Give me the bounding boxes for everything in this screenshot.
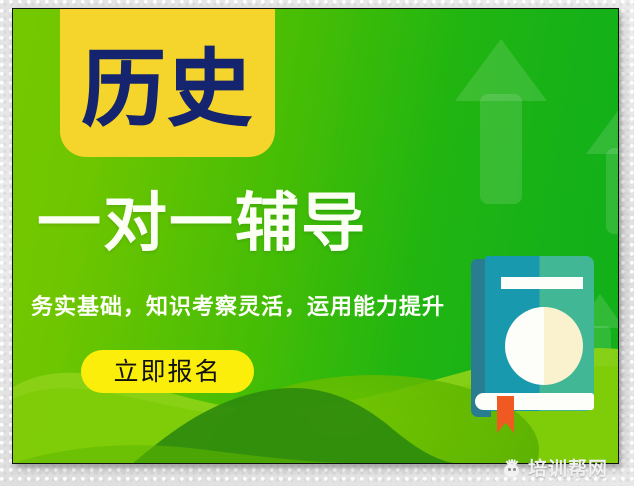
subject-badge: 历史 [60, 8, 275, 157]
subject-badge-label: 历史 [81, 47, 253, 149]
sun-face [504, 464, 519, 477]
arrow-stem [480, 94, 522, 204]
arrow-head [586, 104, 619, 154]
page-background: 历史 一对一辅导 务实基础，知识考察灵活，运用能力提升 立即报名 [0, 0, 634, 486]
arrow-head [455, 39, 547, 101]
arrow-stem [606, 148, 619, 234]
book-title-band [501, 277, 583, 289]
book-icon [471, 256, 594, 423]
banner-headline: 一对一辅导 [37, 192, 597, 256]
promotional-banner: 历史 一对一辅导 务实基础，知识考察灵活，运用能力提升 立即报名 [12, 8, 619, 464]
watermark-label: 培训帮网 [528, 460, 608, 479]
sign-up-now-button[interactable]: 立即报名 [81, 350, 254, 393]
up-arrow-icon [455, 39, 547, 204]
sign-up-now-label: 立即报名 [113, 359, 221, 384]
book-pages [475, 393, 594, 410]
sun-face-icon [501, 459, 522, 480]
sun-eye-right [513, 468, 516, 471]
sun-eye-left [508, 468, 511, 471]
book-emblem-circle [505, 307, 583, 385]
site-watermark: 培训帮网 [497, 456, 612, 482]
